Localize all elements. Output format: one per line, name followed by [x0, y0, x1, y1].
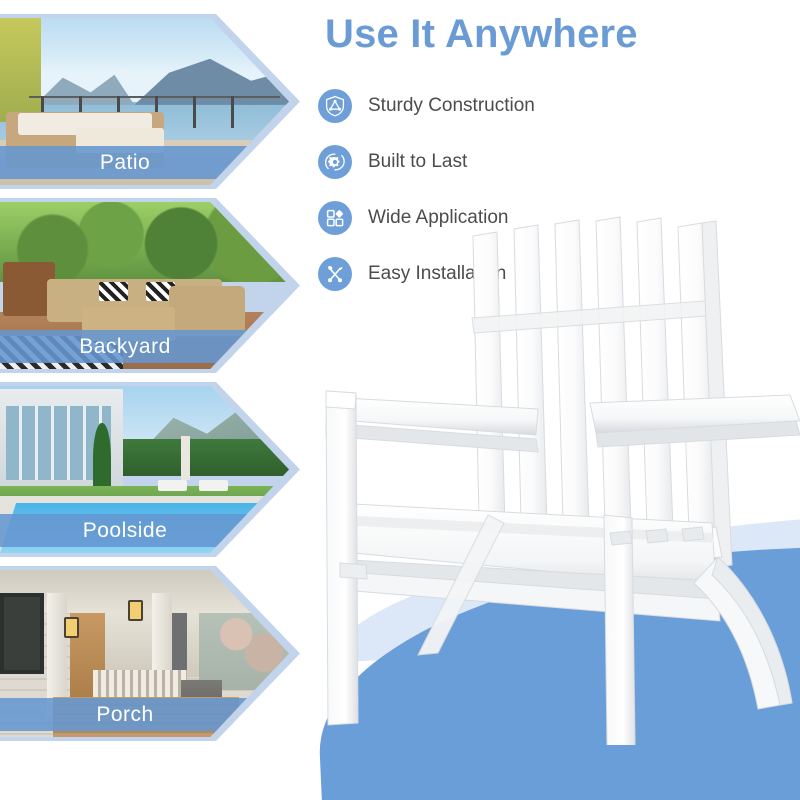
scene-card-backyard[interactable]: Backyard: [0, 198, 300, 373]
gear-icon: [318, 145, 352, 179]
marketing-banner: Use It Anywhere Sturdy Construction: [0, 0, 800, 800]
shield-icon: [318, 89, 352, 123]
feature-label: Built to Last: [368, 151, 467, 173]
card-label-text: Porch: [96, 703, 153, 727]
card-label-text: Poolside: [83, 519, 168, 543]
lakeside-patio-photo: Patio: [0, 18, 292, 185]
feature-item-built-to-last: Built to Last: [318, 134, 535, 190]
garden-backyard-photo: Backyard: [0, 202, 292, 369]
card-label: Porch: [0, 698, 250, 731]
house-porch-photo: Porch: [0, 570, 292, 737]
scene-card-porch[interactable]: Porch: [0, 566, 300, 741]
card-label: Patio: [0, 146, 250, 179]
scene-card-patio[interactable]: Patio: [0, 14, 300, 189]
swimming-pool-photo: Poolside: [0, 386, 292, 553]
page-title: Use It Anywhere: [325, 12, 638, 57]
card-label: Poolside: [0, 514, 250, 547]
card-label: Backyard: [0, 330, 250, 363]
card-label-text: Patio: [100, 151, 150, 175]
white-adirondack-chair: [290, 185, 800, 745]
card-label-text: Backyard: [79, 335, 171, 359]
feature-item-sturdy-construction: Sturdy Construction: [318, 78, 535, 134]
feature-label: Sturdy Construction: [368, 95, 535, 117]
scene-card-poolside[interactable]: Poolside: [0, 382, 300, 557]
